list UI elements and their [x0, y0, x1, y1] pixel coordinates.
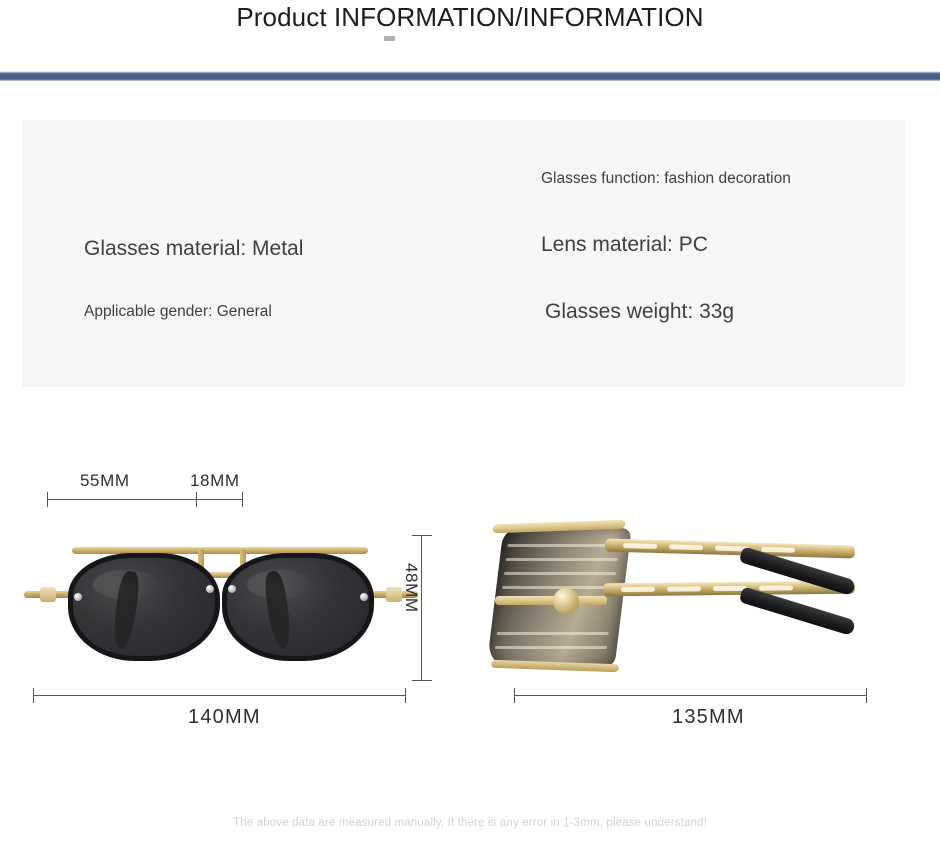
- side-stripe-6: [495, 646, 607, 649]
- dimension-label-temple-length: 135MM: [672, 706, 745, 729]
- side-stripe-1: [507, 544, 619, 547]
- title-artifact-mark: [384, 36, 395, 41]
- page-title: Product INFORMATION/INFORMATION: [0, 2, 940, 33]
- spec-glasses-function: Glasses function: fashion decoration: [541, 170, 791, 188]
- side-stripe-3: [504, 572, 616, 575]
- temple-link-u4: [761, 547, 795, 553]
- dimension-tick-left: [47, 492, 48, 507]
- dimension-rule-total-width: [33, 695, 405, 696]
- side-temple-upper: [605, 539, 855, 559]
- dimension-rule-temple-length: [514, 695, 866, 696]
- temple-link-l1: [621, 587, 655, 592]
- spec-glasses-weight: Glasses weight: 33g: [545, 300, 734, 324]
- dimension-cap-top: [412, 535, 432, 536]
- temple-link-u2: [669, 544, 703, 550]
- spec-applicable-gender: Applicable gender: General: [84, 303, 272, 321]
- dimension-rule-top: [47, 499, 242, 500]
- temple-end-right: [386, 587, 402, 602]
- temple-link-l4: [759, 585, 793, 590]
- header-divider-bar: [0, 71, 940, 81]
- rivet-inner-right: [228, 585, 236, 593]
- dimension-label-lens-height: 48MM: [401, 563, 421, 613]
- dimension-diagram-area: 55MM 18MM 48MM 140MM: [0, 430, 940, 750]
- dimension-cap-bottom: [412, 680, 432, 681]
- dimension-label-bridge-width: 18MM: [190, 471, 240, 491]
- dimension-cap-total-left: [33, 688, 34, 703]
- dimension-cap-temple-left: [514, 688, 515, 703]
- front-view-sunglasses: [30, 525, 410, 675]
- temple-end-left: [40, 587, 56, 602]
- side-stripe-4: [502, 586, 614, 589]
- dimension-tick-middle: [196, 492, 197, 507]
- dimension-rule-vertical: [421, 535, 422, 680]
- temple-link-u1: [623, 543, 657, 549]
- side-stripe-2: [506, 558, 618, 561]
- dimension-cap-temple-right: [866, 688, 867, 703]
- footer-disclaimer: The above data are measured manually, If…: [0, 817, 940, 829]
- dimension-label-lens-width: 55MM: [80, 471, 130, 491]
- rivet-outer-right: [360, 593, 368, 601]
- side-stripe-5: [496, 632, 608, 635]
- spec-glasses-material: Glasses material: Metal: [84, 237, 303, 261]
- dimension-tick-right: [242, 492, 243, 507]
- specifications-panel: Glasses function: fashion decoration Gla…: [22, 120, 905, 387]
- dimension-cap-total-right: [405, 688, 406, 703]
- side-crossbar: [495, 596, 607, 605]
- dimension-label-total-width: 140MM: [188, 706, 261, 729]
- lens-left: [68, 553, 220, 661]
- temple-link-l2: [667, 586, 701, 591]
- lens-right: [222, 553, 374, 661]
- side-view-sunglasses: [495, 510, 885, 690]
- side-bridge-disc: [553, 588, 579, 614]
- rivet-outer-left: [74, 593, 82, 601]
- spec-lens-material: Lens material: PC: [541, 233, 708, 257]
- rivet-inner-left: [206, 585, 214, 593]
